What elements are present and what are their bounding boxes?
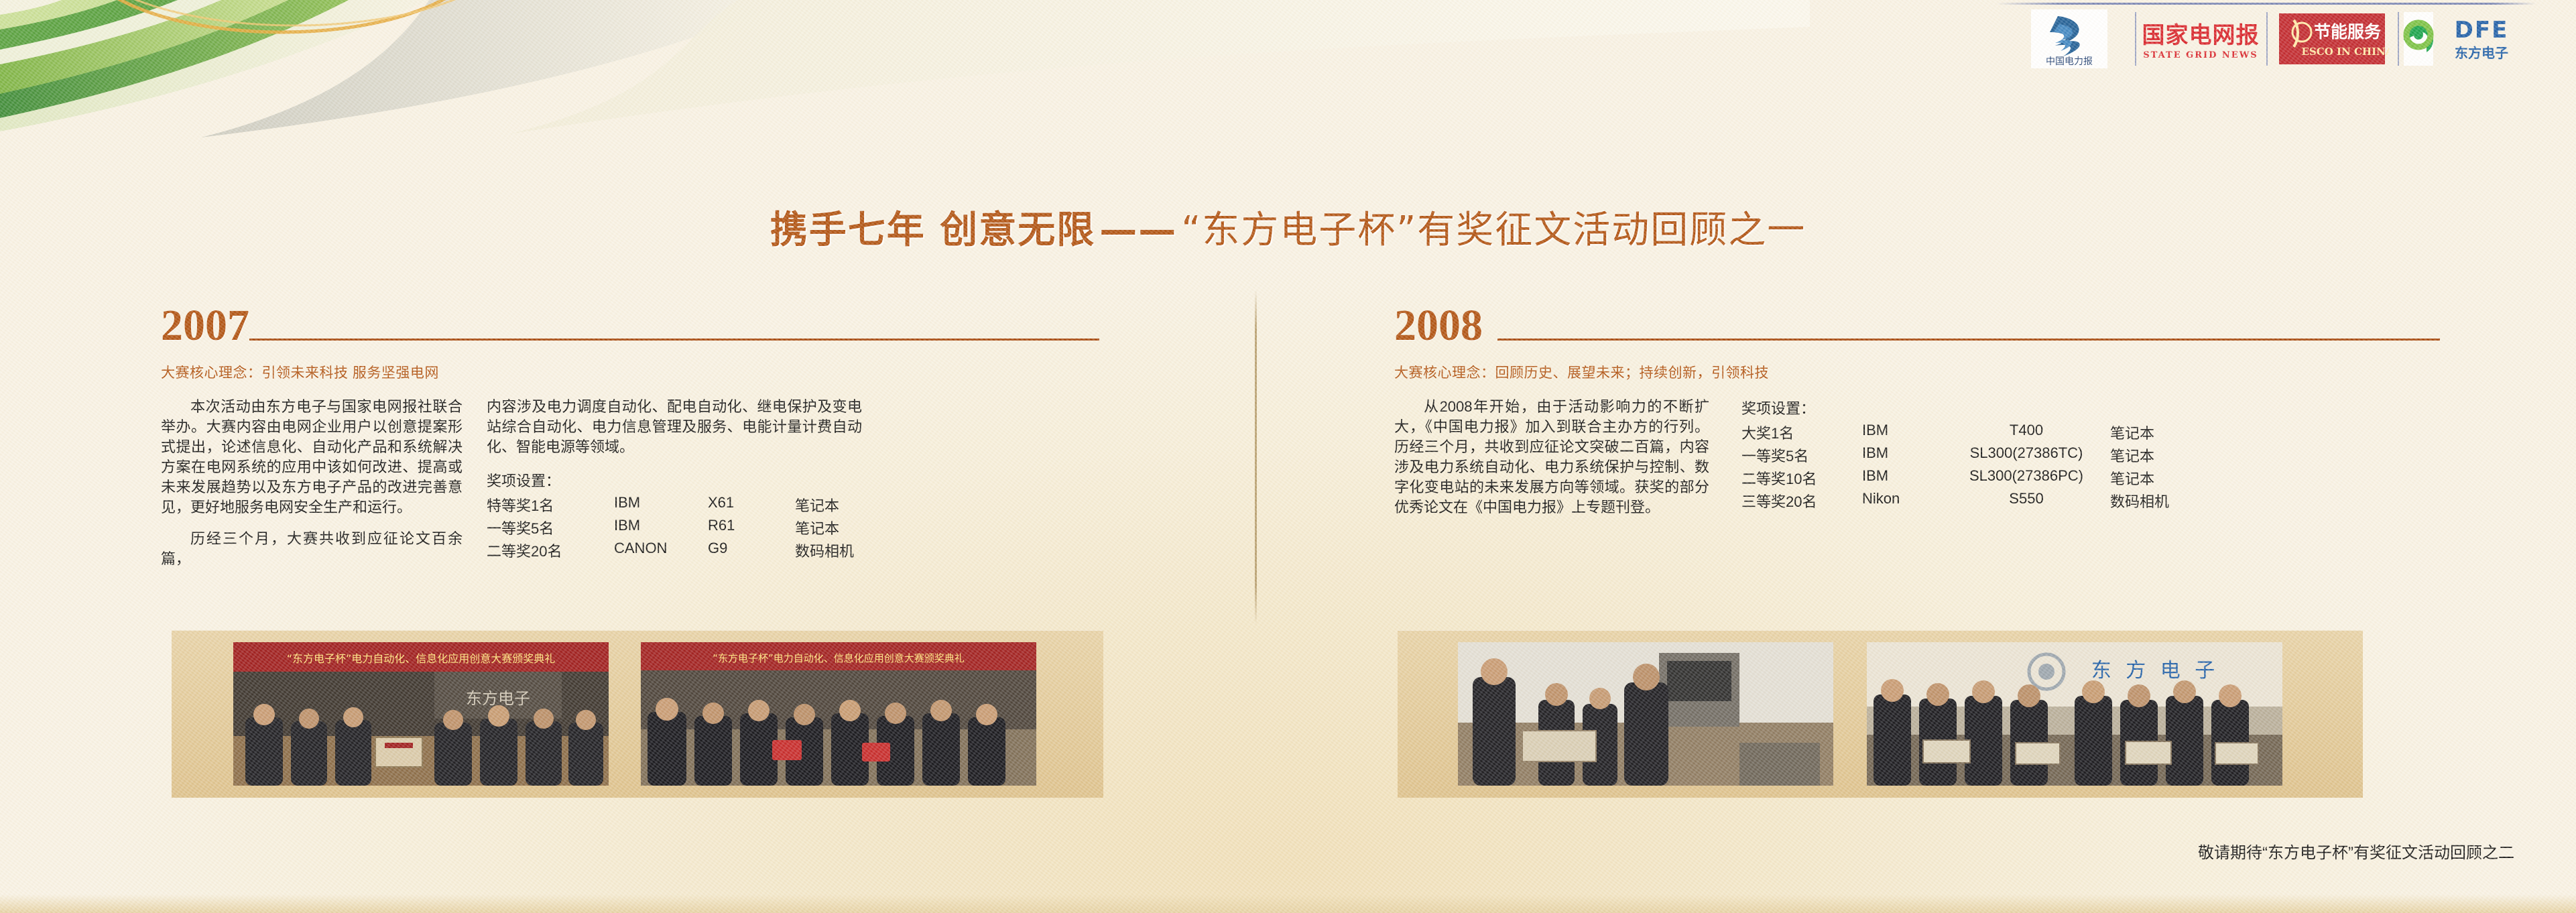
award-model: SL300(27386TC) (1943, 444, 2110, 467)
year-rule (249, 339, 1099, 341)
body-text-2008-right: 奖项设置： 大奖1名 IBM T400 笔记本 一等奖5名 IBM SL300(… (1741, 397, 2251, 529)
sponsor-logo-bar: 中国电力报 国家电网报 STATE GRID NEWS 节能服务 ESCO IN… (2004, 7, 2529, 71)
paragraph: 内容涉及电力调度自动化、配电自动化、继电保护及变电站综合自动化、电力信息管理及服… (487, 397, 862, 457)
paragraph: 本次活动由东方电子与国家电网报社联合举办。大赛内容由电网企业用户以创意提案形式提… (161, 397, 463, 517)
logo-esco-in-china: 节能服务 ESCO IN CHINA (2266, 8, 2398, 70)
awards-table-2007: 特等奖1名 IBM X61 笔记本 一等奖5名 IBM R61 笔记本 (487, 493, 854, 562)
photo-strip-2008: 东 方 电 子 (1398, 630, 2363, 798)
photo-strip-2007: “东方电子杯”电力自动化、信息化应用创意大赛颁奖典礼 东方电子 (172, 630, 1103, 798)
photo-2007-award-ceremony-1: “东方电子杯”电力自动化、信息化应用创意大赛颁奖典礼 东方电子 (233, 642, 609, 786)
logo-bar-rule (1997, 3, 2536, 5)
svg-text:ESCO IN CHINA: ESCO IN CHINA (2302, 46, 2389, 58)
award-rank: 二等奖20名 (487, 539, 614, 562)
svg-text:DFE: DFE (2455, 17, 2509, 44)
award-brand: IBM (1862, 467, 1943, 489)
paragraph: 历经三个月，大赛共收到应征论文百余篇， (161, 529, 463, 569)
title-subtitle: “东方电子杯”有奖征文活动回顾之一 (1181, 208, 1806, 252)
title-bold: 携手七年 创意无限 (770, 208, 1096, 252)
award-prize: 笔记本 (2110, 444, 2169, 467)
svg-text:“东方电子杯”电力自动化、信息化应用创意大赛颁奖典礼: “东方电子杯”电力自动化、信息化应用创意大赛颁奖典礼 (713, 652, 965, 664)
award-rank: 一等奖5名 (1741, 444, 1862, 467)
logo-state-grid-news: 国家电网报 STATE GRID NEWS (2135, 8, 2266, 70)
body-text-2008-left: 从2008年开始，由于活动影响力的不断扩大，《中国电力报》加入到联合主办方的行列… (1394, 397, 1709, 529)
awards-title-2008: 奖项设置： (1741, 397, 2251, 418)
motto-2008: 大赛核心理念：回顾历史、展望未来；持续创新，引领科技 (1394, 362, 2440, 382)
bottom-edge-gradient (0, 894, 2576, 913)
logo-dfe-dongfang-electronics: DFE 东方电子 (2398, 8, 2529, 70)
award-rank: 一等奖5名 (487, 516, 614, 539)
table-row: 大奖1名 IBM T400 笔记本 (1741, 421, 2169, 444)
award-prize: 数码相机 (795, 539, 854, 562)
award-model: G9 (708, 539, 795, 562)
svg-text:STATE GRID NEWS: STATE GRID NEWS (2143, 50, 2258, 60)
title-dash: —— (1095, 208, 1181, 252)
awards-title-2007: 奖项设置： (487, 469, 862, 491)
panel-2008: 2008 大赛核心理念：回顾历史、展望未来；持续创新，引领科技 从2008年开始… (1394, 295, 2440, 529)
svg-text:东方电子: 东方电子 (2455, 45, 2508, 61)
award-prize: 笔记本 (795, 516, 854, 539)
body-text-2007-left: 本次活动由东方电子与国家电网报社联合举办。大赛内容由电网企业用户以创意提案形式提… (161, 397, 463, 581)
award-prize: 笔记本 (795, 493, 854, 516)
award-rank: 三等奖20名 (1741, 489, 1862, 512)
table-row: 一等奖5名 IBM R61 笔记本 (487, 516, 854, 539)
award-brand: IBM (1862, 444, 1943, 467)
award-brand: IBM (614, 493, 708, 516)
award-prize: 笔记本 (2110, 421, 2169, 444)
award-model: R61 (708, 516, 795, 539)
award-brand: IBM (614, 516, 708, 539)
year-label: 2008 (1394, 305, 1483, 347)
table-row: 一等奖5名 IBM SL300(27386TC) 笔记本 (1741, 444, 2169, 467)
award-brand: IBM (1862, 421, 1943, 444)
table-row: 特等奖1名 IBM X61 笔记本 (487, 493, 854, 516)
award-prize: 数码相机 (2110, 489, 2169, 512)
table-row: 三等奖20名 Nikon S550 数码相机 (1741, 489, 2169, 512)
award-model: S550 (1943, 489, 2110, 512)
year-label: 2007 (161, 305, 249, 347)
footer-note: 敬请期待“东方电子杯”有奖征文活动回顾之二 (2198, 839, 2514, 863)
year-header-2007: 2007 (161, 295, 1099, 347)
award-model: T400 (1943, 421, 2110, 444)
table-row: 二等奖10名 IBM SL300(27386PC) 笔记本 (1741, 467, 2169, 489)
photo-2008-award-ceremony-2: 东 方 电 子 (1867, 642, 2282, 786)
award-rank: 特等奖1名 (487, 493, 614, 516)
svg-text:中国电力报: 中国电力报 (2046, 56, 2093, 67)
award-brand: CANON (614, 539, 708, 562)
svg-text:东方电子: 东方电子 (466, 689, 530, 708)
year-rule (1497, 339, 2440, 341)
poster-main-title: 携手七年 创意无限——“东方电子杯”有奖征文活动回顾之一 (0, 200, 2576, 254)
panel-vertical-divider (1255, 290, 1257, 625)
header-swoosh-graphic (0, 0, 1810, 147)
photo-2007-award-ceremony-2: “东方电子杯”电力自动化、信息化应用创意大赛颁奖典礼 (641, 642, 1036, 786)
poster-canvas: 中国电力报 国家电网报 STATE GRID NEWS 节能服务 ESCO IN… (0, 0, 2576, 913)
paragraph: 从2008年开始，由于活动影响力的不断扩大，《中国电力报》加入到联合主办方的行列… (1394, 397, 1709, 517)
award-brand: Nikon (1862, 489, 1943, 512)
award-model: X61 (708, 493, 795, 516)
body-text-2007-right: 内容涉及电力调度自动化、配电自动化、继电保护及变电站综合自动化、电力信息管理及服… (487, 397, 862, 581)
year-header-2008: 2008 (1394, 295, 2440, 347)
svg-text:东 方 电 子: 东 方 电 子 (2091, 659, 2219, 682)
photo-2008-award-ceremony-1 (1458, 642, 1833, 786)
svg-text:国家电网报: 国家电网报 (2142, 22, 2260, 49)
panel-2007: 2007 大赛核心理念：引领未来科技 服务坚强电网 本次活动由东方电子与国家电网… (161, 295, 1099, 581)
motto-2007: 大赛核心理念：引领未来科技 服务坚强电网 (161, 362, 1099, 382)
table-row: 二等奖20名 CANON G9 数码相机 (487, 539, 854, 562)
award-prize: 笔记本 (2110, 467, 2169, 489)
svg-text:“东方电子杯”电力自动化、信息化应用创意大赛颁奖典礼: “东方电子杯”电力自动化、信息化应用创意大赛颁奖典礼 (287, 652, 556, 665)
award-rank: 二等奖10名 (1741, 467, 1862, 489)
logo-china-electric-power-news: 中国电力报 (2004, 8, 2135, 70)
awards-table-2008: 大奖1名 IBM T400 笔记本 一等奖5名 IBM SL300(27386T… (1741, 421, 2169, 512)
award-rank: 大奖1名 (1741, 421, 1862, 444)
svg-text:节能服务: 节能服务 (2314, 22, 2381, 42)
award-model: SL300(27386PC) (1943, 467, 2110, 489)
